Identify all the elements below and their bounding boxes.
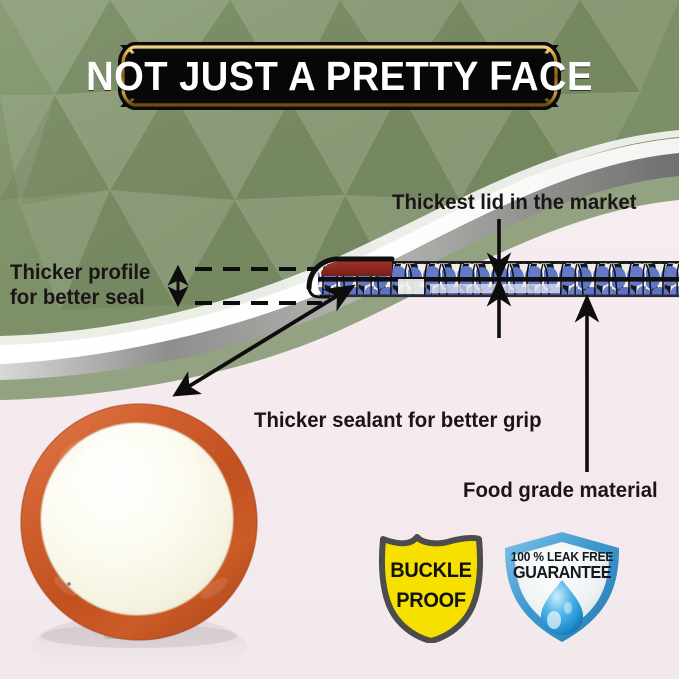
infographic-poster: NOT JUST A PRETTY FACE	[0, 0, 679, 679]
profile-measure-guides	[178, 269, 322, 303]
shield-icon	[497, 528, 627, 646]
callout-thicker-profile-line1: Thicker profile	[10, 260, 185, 285]
callout-thicker-profile-line2: for better seal	[10, 285, 185, 310]
callout-thickest-lid: Thickest lid in the market	[392, 190, 637, 215]
lid-cross-section	[309, 259, 679, 297]
buckle-proof-badge: BUCKLE PROOF	[377, 533, 485, 643]
leak-free-guarantee-badge: 100 % LEAK FREE GUARANTEE	[497, 528, 627, 646]
product-lid-photo	[21, 404, 257, 679]
shield-icon	[377, 533, 485, 643]
callout-thicker-sealant: Thicker sealant for better grip	[254, 408, 542, 433]
callout-food-grade: Food grade material	[463, 478, 658, 503]
callout-thicker-profile: Thicker profile for better seal	[10, 260, 185, 310]
